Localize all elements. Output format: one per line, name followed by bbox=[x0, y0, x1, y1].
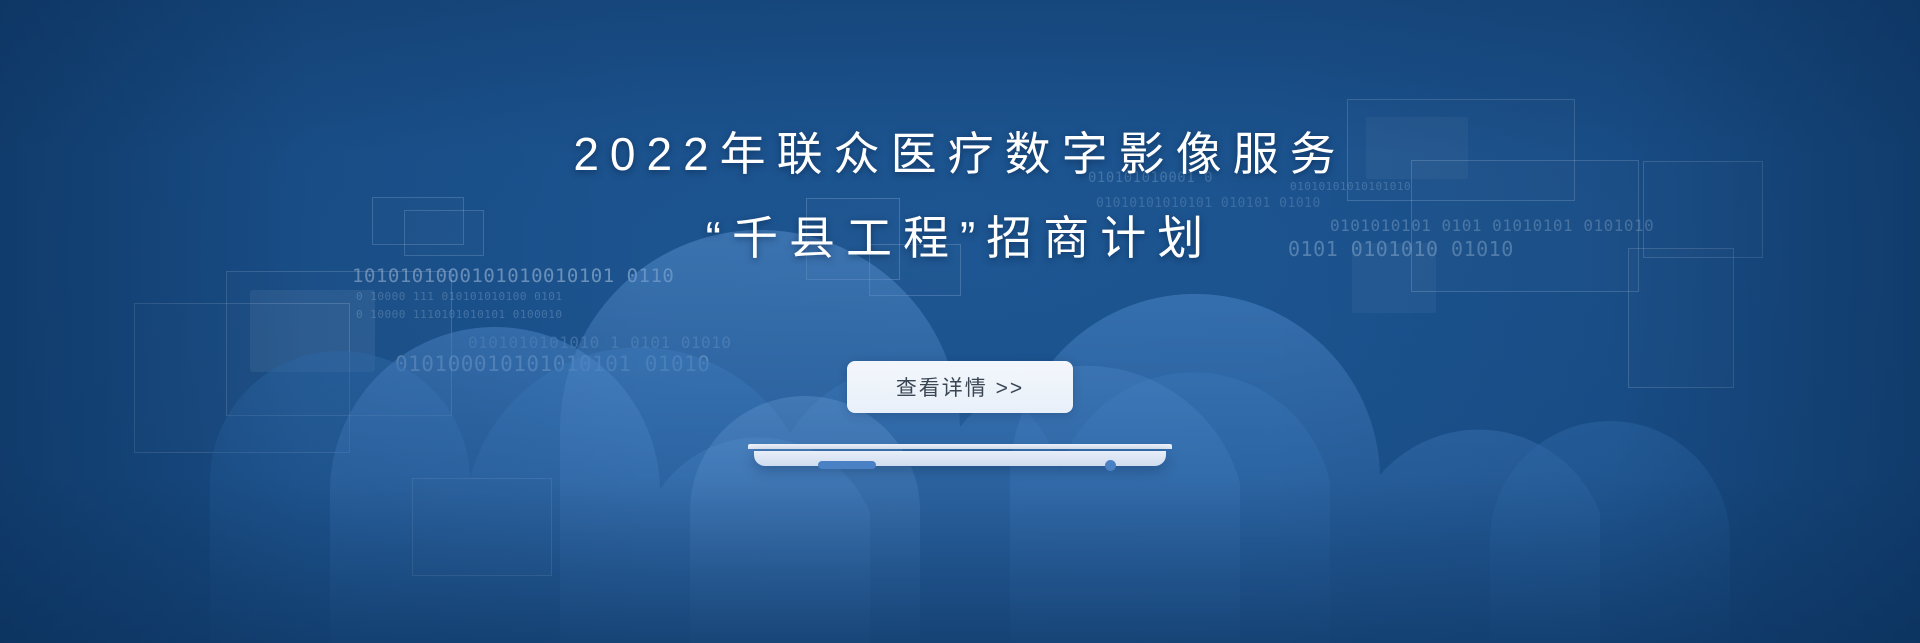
binary-decor-text: 0101010101010 1 0101 01010 bbox=[468, 333, 731, 352]
promo-banner: 1010101000101010010101 0110 0 10000 111 … bbox=[0, 0, 1920, 643]
decor-rectangle-filled bbox=[250, 290, 375, 372]
laptop-lip bbox=[748, 444, 1172, 449]
page-title: 2022年联众医疗数字影像服务 “千县工程”招商计划 bbox=[0, 112, 1920, 280]
laptop-indicator-dot bbox=[1105, 460, 1116, 471]
decor-rectangle-outline bbox=[412, 478, 552, 576]
headline-line-1: 2022年联众医疗数字影像服务 bbox=[0, 112, 1920, 196]
laptop-graphic bbox=[748, 444, 1172, 472]
view-details-button[interactable]: 查看详情 >> bbox=[847, 361, 1073, 413]
headline-line-2: “千县工程”招商计划 bbox=[0, 196, 1920, 280]
laptop-body bbox=[754, 451, 1166, 466]
laptop-indicator-pill bbox=[818, 461, 876, 469]
